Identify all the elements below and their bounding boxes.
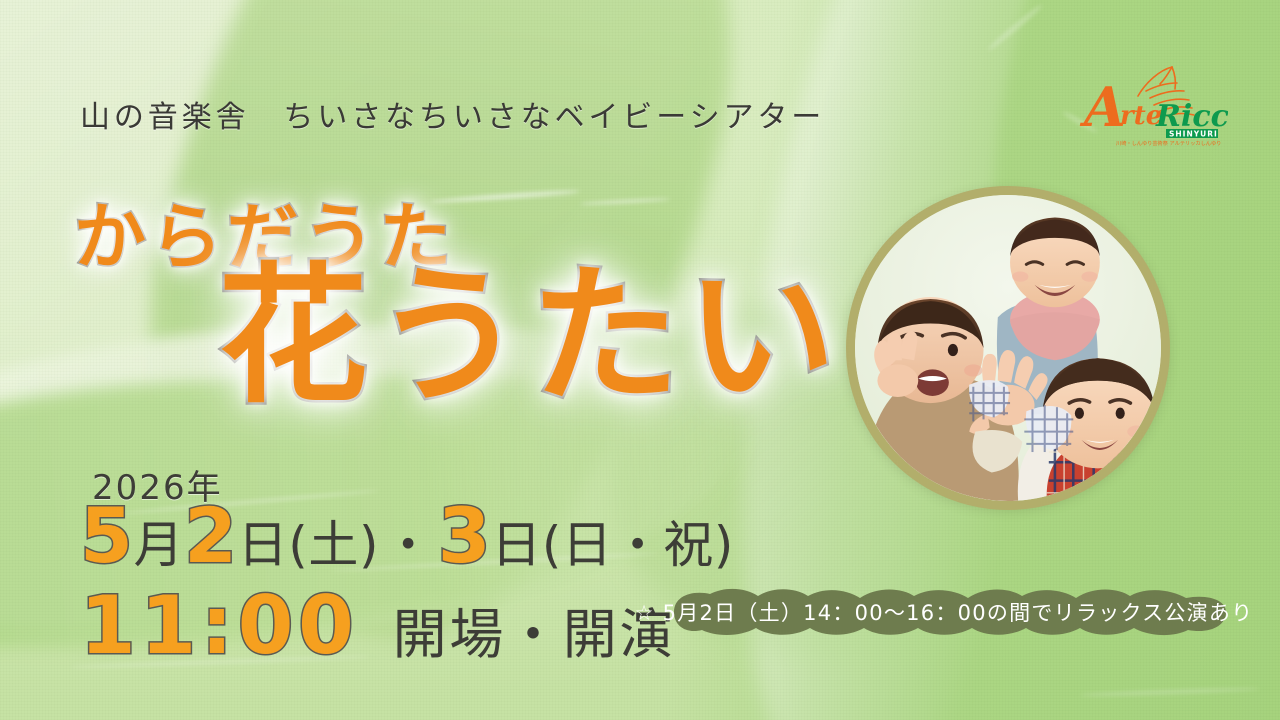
presenter-line: 山の音楽舎 ちいさなちいさなベイビーシアター — [80, 92, 825, 136]
event-month-kanji: 月 — [134, 520, 185, 570]
logo-letter-a: A — [1079, 75, 1126, 139]
banner-text: ☆ 5月2日（土）14：00〜16：00の間でリラックス公演あり — [648, 588, 1240, 636]
event-day2-kanji: 日 — [491, 520, 542, 570]
event-day2-weekday: (日・祝) — [542, 520, 734, 570]
event-day2-number: 3 — [438, 498, 492, 574]
event-month-number: 5 — [80, 498, 134, 574]
event-start-time: 11:00 — [80, 586, 359, 666]
event-date-line: 5 月 2 日 (土) ・ 3 日 (日・祝) — [80, 498, 734, 574]
event-day1-kanji: 日 — [238, 520, 289, 570]
arte-ricca-logo: A rte Ricca SHINYURI 川崎・しんゆり芸術祭 アルテリッカしん… — [1068, 58, 1228, 150]
baby-photo-circle — [846, 186, 1170, 510]
event-day1-number: 2 — [184, 498, 238, 574]
event-day1-weekday: (土) — [288, 520, 379, 570]
logo-subtitle: SHINYURI — [1169, 130, 1218, 139]
event-time-line: 11:00 開場・開演 — [80, 586, 676, 666]
baby-photo-image — [855, 195, 1161, 501]
event-date-separator: ・ — [379, 520, 438, 570]
poster-canvas: 山の音楽舎 ちいさなちいさなベイビーシアター A rte Ricca SHINY… — [0, 0, 1280, 720]
logo-fine-print: 川崎・しんゆり芸術祭 アルテリッカしんゆり — [1116, 139, 1221, 147]
main-title-hanautai: 花うたい — [218, 262, 842, 412]
relax-performance-banner: ☆ 5月2日（土）14：00〜16：00の間でリラックス公演あり — [648, 588, 1240, 636]
